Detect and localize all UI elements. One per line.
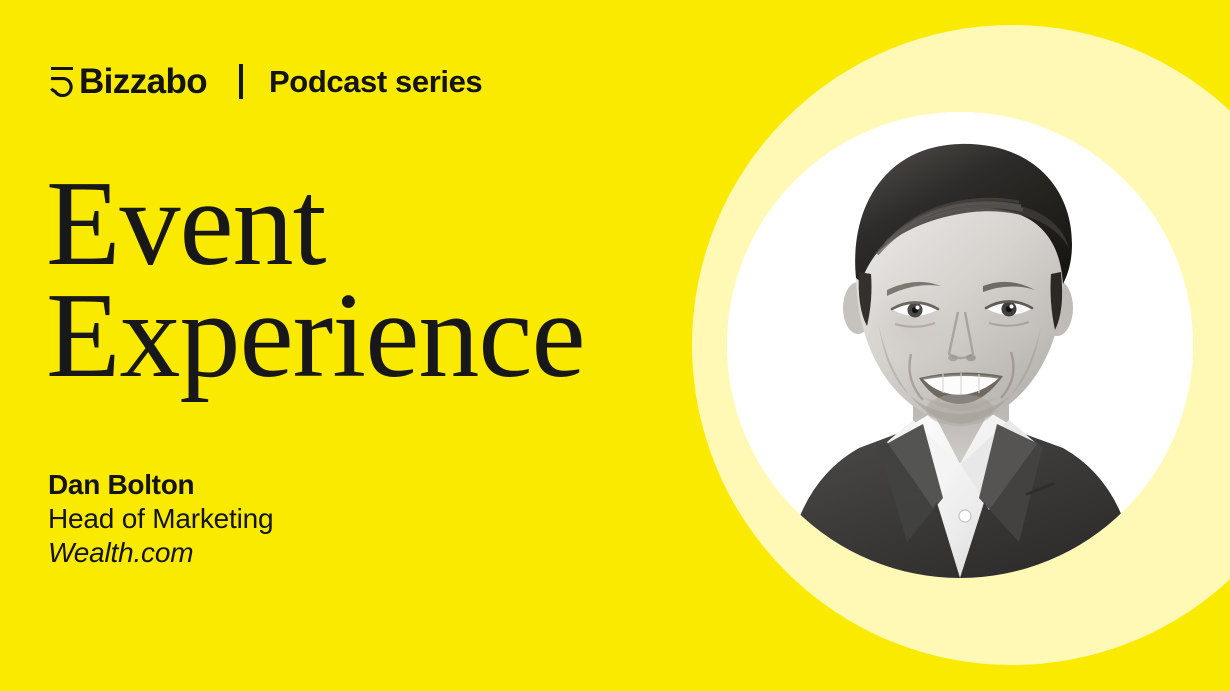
speaker-portrait	[727, 112, 1193, 578]
speaker-organization: Wealth.com	[48, 536, 273, 570]
headline-line-1: Event	[46, 168, 585, 280]
brand-header: Bizzabo Podcast series	[48, 58, 482, 104]
speaker-name: Dan Bolton	[48, 468, 273, 502]
page-title: Event Experience	[46, 168, 585, 392]
portrait-circle-frame	[727, 112, 1193, 578]
bizzabo-b-mark-icon	[48, 61, 78, 102]
headline-line-2: Experience	[46, 280, 585, 392]
header-divider	[239, 64, 243, 99]
series-label: Podcast series	[269, 66, 482, 97]
podcast-series-slide: Bizzabo Podcast series Event Experience …	[0, 0, 1230, 691]
speaker-title: Head of Marketing	[48, 502, 273, 536]
bizzabo-logo[interactable]: Bizzabo	[48, 61, 207, 102]
speaker-block: Dan Bolton Head of Marketing Wealth.com	[48, 468, 273, 570]
bizzabo-wordmark: Bizzabo	[79, 64, 207, 99]
